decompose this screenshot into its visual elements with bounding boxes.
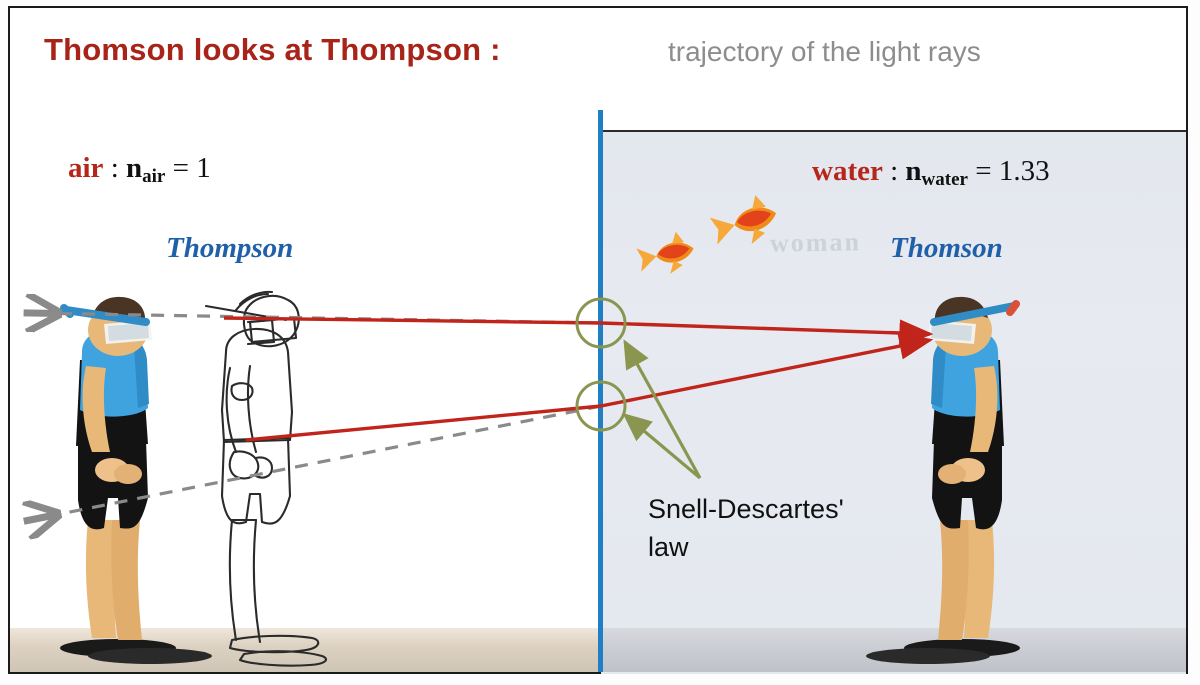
- callout-arrow-upper: [625, 342, 700, 478]
- diver-thomson: [866, 297, 1020, 664]
- fish-small: [635, 229, 698, 280]
- refraction-point-markers: [577, 299, 625, 430]
- law-callout-arrows: [625, 342, 700, 478]
- fish-large: [707, 191, 782, 253]
- ray-head-refracted: [601, 323, 930, 334]
- ray-hand-incident: [246, 406, 601, 440]
- fish-group: [635, 191, 783, 280]
- diver-thompson-virtual-outline: [206, 292, 326, 666]
- real-light-rays: [224, 318, 930, 440]
- callout-arrow-lower: [625, 415, 700, 478]
- ray-hand-refracted: [601, 340, 930, 406]
- diver-thompson-real: [60, 297, 212, 664]
- diagram-overlay: [0, 0, 1200, 685]
- diagram-canvas: woman Thomson looks at Thompson : trajec…: [0, 0, 1200, 685]
